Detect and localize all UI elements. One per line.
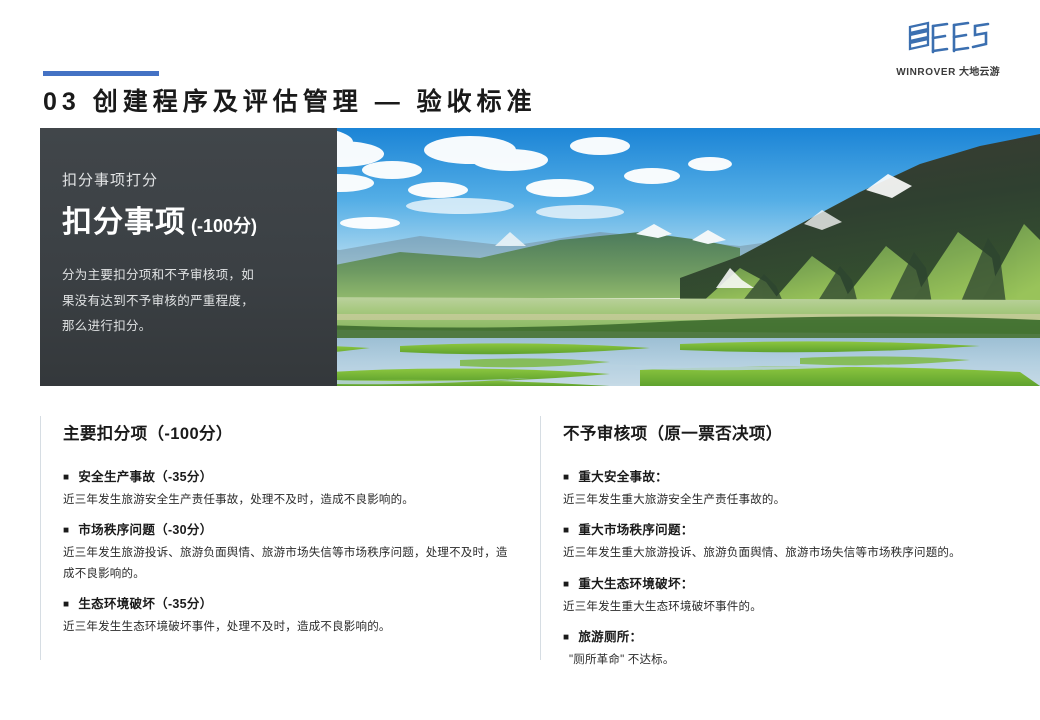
disqualifying-item-heading: ■ 重大市场秩序问题： xyxy=(563,519,1038,538)
disqualifying-item-heading-text: 旅游厕所： xyxy=(578,626,642,645)
hero-description-line: 果没有达到不予审核的严重程度， xyxy=(62,289,311,315)
column-title: 不予审核项（原一票否决项） xyxy=(563,420,1038,444)
disqualifying-item-body: 近三年发生重大旅游投诉、旅游负面舆情、旅游市场失信等市场秩序问题的。 xyxy=(563,543,1038,563)
brand-wordmark: WINROVER大地云游 xyxy=(884,63,1012,78)
square-bullet-icon: ■ xyxy=(563,580,569,590)
deduction-item-heading-text: 安全生产事故（-35分） xyxy=(78,466,212,485)
deduction-item-heading-text: 生态环境破坏（-35分） xyxy=(78,593,212,612)
square-bullet-icon: ■ xyxy=(563,633,569,643)
brand-logo: WINROVER大地云游 xyxy=(884,18,1012,78)
disqualifying-item-heading: ■ 旅游厕所： xyxy=(563,626,1038,645)
deduction-item-heading: ■ 安全生产事故（-35分） xyxy=(63,466,510,485)
hero-headline-main: 扣分事项 xyxy=(62,206,186,239)
disqualifying-item-heading-text: 重大安全事故： xyxy=(578,466,668,485)
disqualifying-item-body: 近三年发生重大旅游安全生产责任事故的。 xyxy=(563,490,1038,510)
deduction-item-body: 近三年发生旅游安全生产责任事故，处理不及时，造成不良影响的。 xyxy=(63,490,510,510)
disqualifying-item-heading-text: 重大生态环境破坏： xyxy=(578,573,693,592)
disqualifying-item-heading: ■ 重大安全事故： xyxy=(563,466,1038,485)
square-bullet-icon: ■ xyxy=(563,473,569,483)
disqualifying-item-body: 近三年发生重大生态环境破坏事件的。 xyxy=(563,597,1038,617)
hero-description-line: 那么进行扣分。 xyxy=(62,314,311,340)
deduction-item-body: 近三年发生旅游投诉、旅游负面舆情、旅游市场失信等市场秩序问题，处理不及时，造成不… xyxy=(63,543,510,584)
deduction-item-heading: ■ 生态环境破坏（-35分） xyxy=(63,593,510,612)
deduction-item: ■ 生态环境破坏（-35分） 近三年发生生态环境破坏事件，处理不及时，造成不良影… xyxy=(63,593,510,637)
disqualifying-item: ■ 重大安全事故： 近三年发生重大旅游安全生产责任事故的。 xyxy=(563,466,1038,510)
square-bullet-icon: ■ xyxy=(63,473,69,483)
disqualifying-item: ■ 旅游厕所： "厕所革命" 不达标。 xyxy=(563,626,1038,670)
column-disqualifying-items: 不予审核项（原一票否决项） ■ 重大安全事故： 近三年发生重大旅游安全生产责任事… xyxy=(540,416,1038,660)
column-main-deductions: 主要扣分项（-100分） ■ 安全生产事故（-35分） 近三年发生旅游安全生产责… xyxy=(40,416,524,660)
brand-cjk-name: 大地云游 xyxy=(959,67,1000,78)
deduction-item-heading: ■ 市场秩序问题（-30分） xyxy=(63,519,510,538)
disqualifying-item-heading-text: 重大市场秩序问题： xyxy=(578,519,693,538)
disqualifying-item: ■ 重大生态环境破坏： 近三年发生重大生态环境破坏事件的。 xyxy=(563,573,1038,617)
hero-headline: 扣分事项(-100分) xyxy=(62,197,311,241)
disqualifying-item-heading: ■ 重大生态环境破坏： xyxy=(563,573,1038,592)
disqualifying-item-body: "厕所革命" 不达标。 xyxy=(563,650,1038,670)
deduction-item: ■ 安全生产事故（-35分） 近三年发生旅游安全生产责任事故，处理不及时，造成不… xyxy=(63,466,510,510)
deduction-item-heading-text: 市场秩序问题（-30分） xyxy=(78,519,212,538)
square-bullet-icon: ■ xyxy=(563,526,569,536)
title-accent-bar xyxy=(43,71,159,76)
square-bullet-icon: ■ xyxy=(63,600,69,610)
hero-banner: 扣分事项打分 扣分事项(-100分) 分为主要扣分项和不予审核项，如 果没有达到… xyxy=(40,128,1040,386)
hero-description: 分为主要扣分项和不予审核项，如 果没有达到不予审核的严重程度， 那么进行扣分。 xyxy=(62,263,311,340)
hero-description-line: 分为主要扣分项和不予审核项，如 xyxy=(62,263,311,289)
page-title: 03 创建程序及评估管理 — 验收标准 xyxy=(43,82,537,118)
hero-headline-score: (-100分) xyxy=(191,216,257,236)
disqualifying-item: ■ 重大市场秩序问题： 近三年发生重大旅游投诉、旅游负面舆情、旅游市场失信等市场… xyxy=(563,519,1038,563)
hero-text-panel: 扣分事项打分 扣分事项(-100分) 分为主要扣分项和不予审核项，如 果没有达到… xyxy=(40,128,337,386)
winrover-logo-mark-icon xyxy=(902,18,994,60)
deduction-item-body: 近三年发生生态环境破坏事件，处理不及时，造成不良影响的。 xyxy=(63,617,510,637)
brand-latin-name: WINROVER xyxy=(896,67,956,78)
column-title: 主要扣分项（-100分） xyxy=(63,420,510,444)
square-bullet-icon: ■ xyxy=(63,526,69,536)
hero-kicker: 扣分事项打分 xyxy=(62,172,311,190)
deduction-item: ■ 市场秩序问题（-30分） 近三年发生旅游投诉、旅游负面舆情、旅游市场失信等市… xyxy=(63,519,510,584)
content-columns: 主要扣分项（-100分） ■ 安全生产事故（-35分） 近三年发生旅游安全生产责… xyxy=(40,416,1040,660)
